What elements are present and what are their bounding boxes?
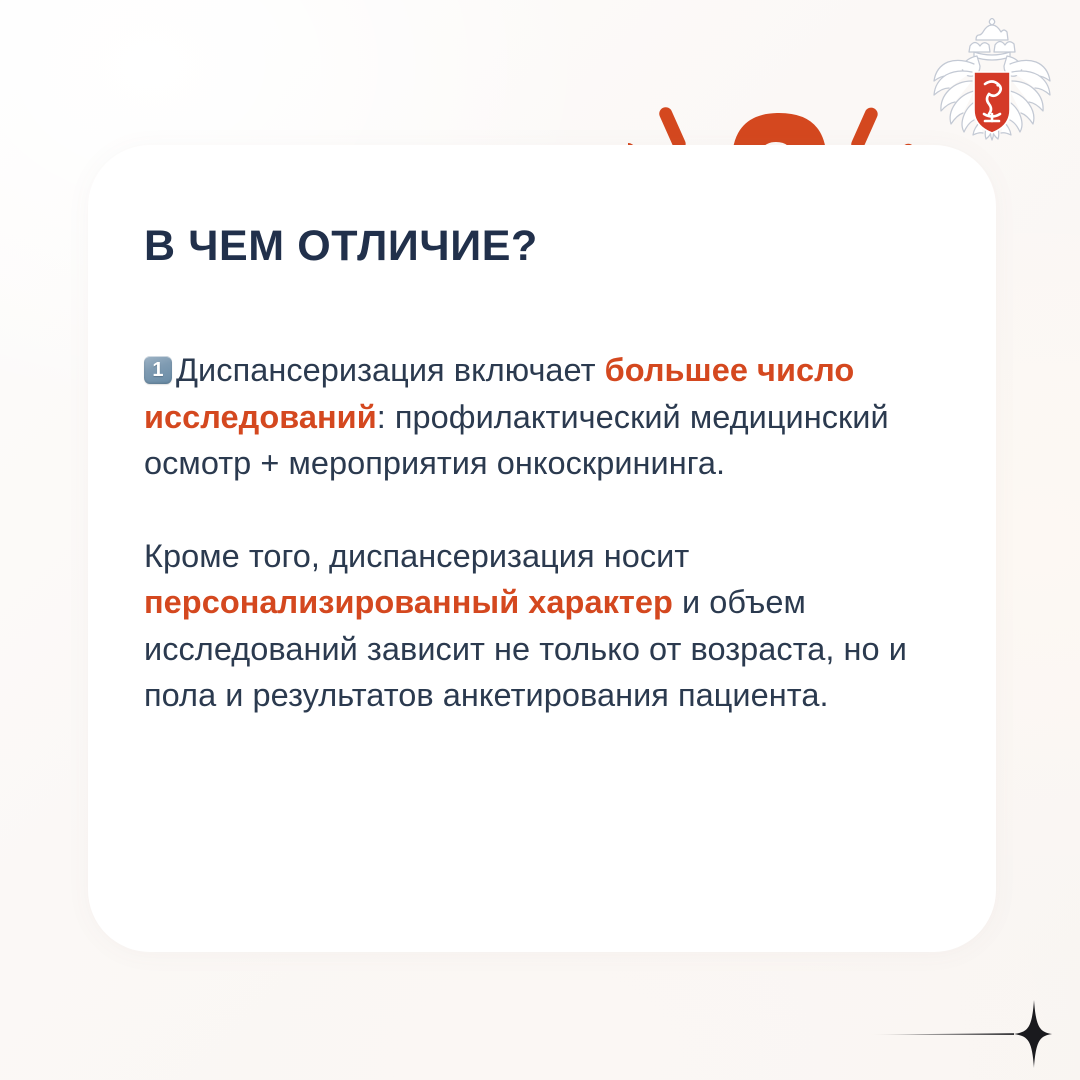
point-2-run-highlight: персонализированный характер bbox=[144, 584, 673, 620]
ministry-of-health-emblem bbox=[930, 18, 1054, 142]
paragraph-point-1: 1Диспансеризация включает большее число … bbox=[144, 347, 946, 487]
body-text-block: 1Диспансеризация включает большее число … bbox=[144, 347, 946, 719]
card-content: В ЧЕМ ОТЛИЧИЕ? 1Диспансеризация включает… bbox=[144, 223, 946, 719]
point-2-run-normal-a: Кроме того, диспансеризация носит bbox=[144, 538, 689, 574]
point-1-run-normal-a: Диспансеризация включает bbox=[176, 352, 605, 388]
keycap-one-label: 1 bbox=[144, 356, 172, 384]
content-card: В ЧЕМ ОТЛИЧИЕ? 1Диспансеризация включает… bbox=[88, 145, 996, 952]
four-point-sparkle-icon bbox=[866, 998, 1052, 1070]
paragraph-point-2: Кроме того, диспансеризация носит персон… bbox=[144, 533, 946, 719]
keycap-one-emoji: 1 bbox=[144, 356, 172, 384]
page-title: В ЧЕМ ОТЛИЧИЕ? bbox=[144, 223, 946, 270]
